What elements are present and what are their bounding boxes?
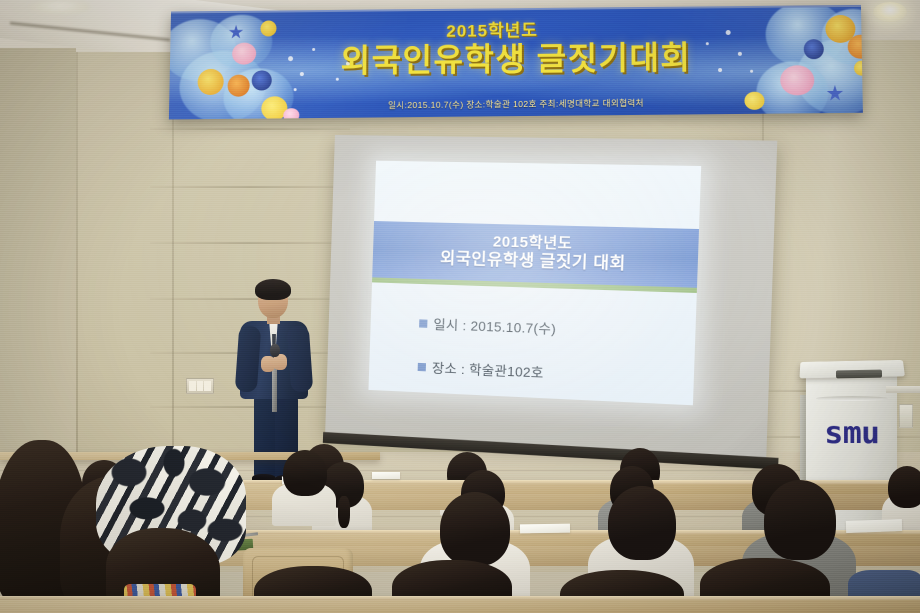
student-hair <box>440 492 510 566</box>
banner-title-line: 외국인유학생 글짓기대회 <box>340 40 691 78</box>
bullet-square-icon <box>419 319 427 327</box>
slide-bullet-list: 일시 : 2015.10.7(수) 장소 : 학술관102호 <box>417 313 661 412</box>
student-hair <box>608 486 676 560</box>
ceiling-light-right <box>873 2 907 22</box>
presenter-arm-right <box>287 325 314 392</box>
wall-box <box>899 404 913 428</box>
wall-rail <box>886 386 920 393</box>
presenter-arm-left <box>235 325 262 392</box>
banner-year-line: 2015학년도 <box>446 16 538 42</box>
paper-sheet <box>372 472 400 479</box>
slide-bullet-item: 일시 : 2015.10.7(수) <box>419 313 661 342</box>
wall-seam-horizontal <box>150 128 350 130</box>
student-hair <box>888 466 920 508</box>
student-hair <box>283 450 327 496</box>
event-banner: 2015학년도 외국인유학생 글짓기대회 일시:2015.10.7(수) 장소:… <box>169 5 863 120</box>
slide-bullet-item: 장소 : 학술관102호 <box>417 357 659 387</box>
presenter-hair <box>255 279 291 300</box>
ceiling-light-left <box>30 0 90 14</box>
projection-screen: 2015학년도 외국인유학생 글짓기 대회 일시 : 2015.10.7(수) … <box>325 135 777 459</box>
left-wall-return <box>0 48 76 478</box>
projected-slide: 2015학년도 외국인유학생 글짓기 대회 일시 : 2015.10.7(수) … <box>368 161 701 406</box>
light-switch-panel[interactable] <box>186 378 214 394</box>
audience-member <box>272 450 338 516</box>
student-ponytail <box>338 496 350 528</box>
desk-edge <box>0 596 920 600</box>
smu-logo: smu <box>814 416 890 451</box>
student-hair <box>764 480 836 560</box>
slide-title-band: 2015학년도 외국인유학생 글짓기 대회 <box>372 221 699 288</box>
lectern-groove <box>816 396 888 401</box>
slide-bullet-text: 장소 : 학술관102호 <box>432 357 544 381</box>
slide-title-line-2: 외국인유학생 글짓기 대회 <box>440 250 626 274</box>
lectern-slot <box>836 370 882 379</box>
wall-seam-vertical <box>76 52 78 452</box>
wall-seam-horizontal <box>150 186 350 188</box>
microphone-icon <box>270 344 280 357</box>
microphone-handle <box>272 368 277 412</box>
bullet-square-icon <box>418 362 426 370</box>
lecture-hall-photograph: 2015학년도 외국인유학생 글짓기대회 일시:2015.10.7(수) 장소:… <box>0 0 920 613</box>
wall-seam-horizontal <box>150 242 350 244</box>
slide-bullet-text: 일시 : 2015.10.7(수) <box>433 314 556 338</box>
